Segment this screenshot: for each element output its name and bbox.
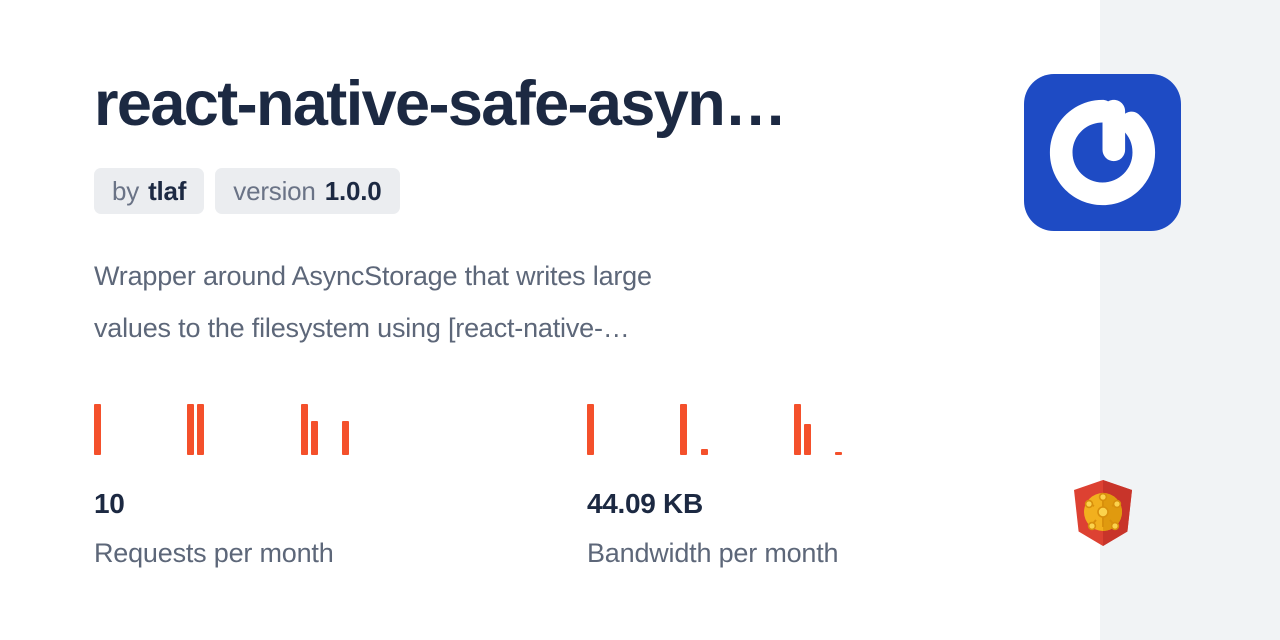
requests-value: 10	[94, 487, 587, 521]
version-badge: version 1.0.0	[215, 168, 399, 214]
sparkline-bar	[794, 404, 801, 455]
jsdelivr-logo	[1024, 74, 1181, 231]
sparkline-bar	[701, 449, 708, 455]
sparkline-bar	[94, 404, 101, 455]
stat-requests: 10 Requests per month	[94, 404, 587, 569]
meta-badges: by tlaf version 1.0.0	[94, 168, 400, 214]
package-stats-card: react-native-safe-asyn… by tlaf version …	[0, 0, 1280, 640]
sparkline-bar	[197, 404, 204, 455]
page-title: react-native-safe-asyn…	[94, 61, 904, 147]
version-badge-value: 1.0.0	[325, 168, 382, 214]
description-line-1: Wrapper around AsyncStorage that writes …	[94, 250, 854, 302]
version-badge-prefix: version	[233, 168, 315, 214]
package-description: Wrapper around AsyncStorage that writes …	[94, 250, 854, 354]
sparkline-bar	[311, 421, 318, 455]
stat-bandwidth: 44.09 KB Bandwidth per month	[587, 404, 987, 569]
bandwidth-label: Bandwidth per month	[587, 537, 987, 569]
sparkline-bar	[301, 404, 308, 455]
author-badge-value: tlaf	[148, 168, 186, 214]
sparkline-bar	[187, 404, 194, 455]
requests-sparkline	[94, 404, 404, 455]
stats-row: 10 Requests per month 44.09 KB Bandwidth…	[94, 404, 994, 569]
sparkline-bar	[342, 421, 349, 455]
sparkline-bar	[835, 452, 842, 455]
sparkline-bar	[680, 404, 687, 455]
javascript-package-icon	[1070, 478, 1136, 548]
description-line-2: values to the filesystem using [react-na…	[94, 302, 854, 354]
requests-label: Requests per month	[94, 537, 587, 569]
author-badge-prefix: by	[112, 168, 139, 214]
sparkline-bar	[587, 404, 594, 455]
bandwidth-sparkline	[587, 404, 897, 455]
author-badge: by tlaf	[94, 168, 204, 214]
bandwidth-value: 44.09 KB	[587, 487, 987, 521]
sparkline-bar	[804, 424, 811, 455]
